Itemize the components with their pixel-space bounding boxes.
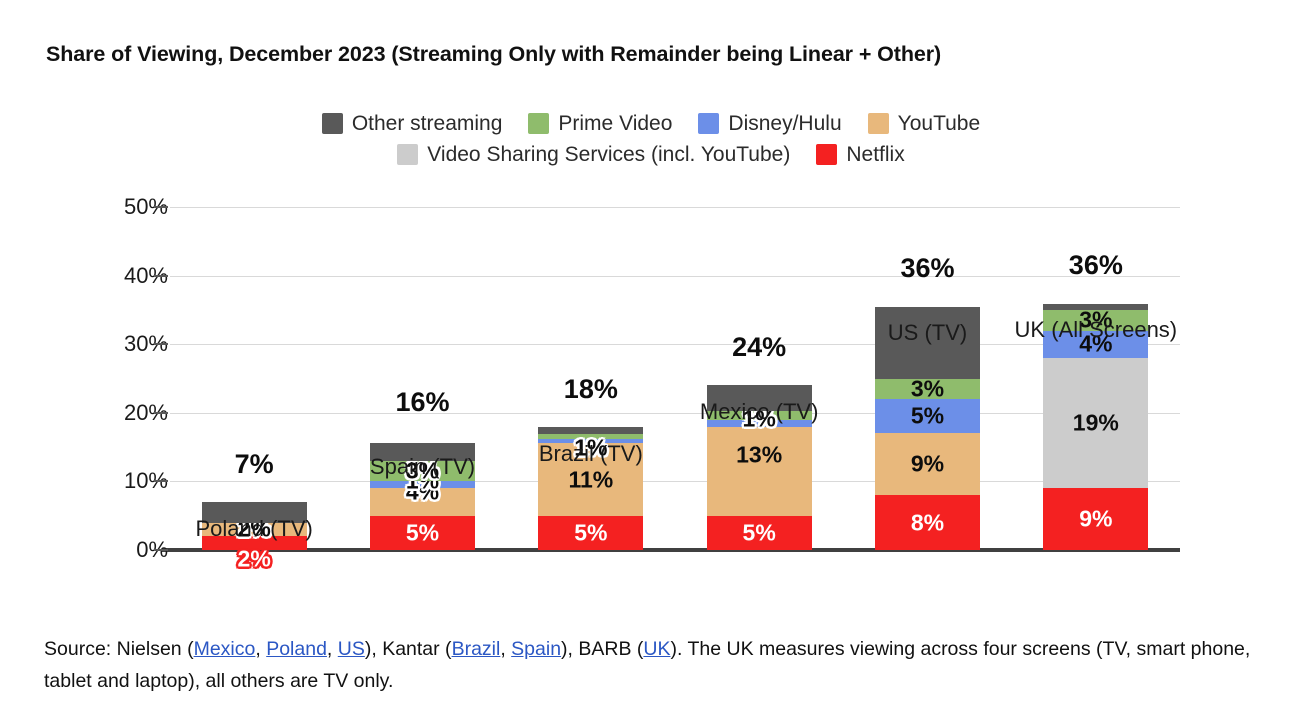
gridline-40 [170,276,1180,277]
link-brazil[interactable]: Brazil [452,638,501,660]
legend-item-disney-hulu[interactable]: Disney/Hulu [698,112,841,136]
segment-other-streaming[interactable] [538,427,643,434]
footnote-mid-1: ), Kantar ( [365,638,452,660]
footnote-mid-2: ), BARB ( [561,638,643,660]
y-axis-tick-20: 20% [48,400,168,426]
legend-item-netflix[interactable]: Netflix [816,143,904,167]
x-axis-label: US (TV) [888,320,967,346]
legend-row-primary: Other streamingPrime VideoDisney/HuluYou… [0,108,1302,139]
y-axis-tick-mark [154,412,168,414]
plot-area: 0%10%20%30%40%50%2%2%7%Poland (TV)5%4%1%… [170,207,1180,550]
x-axis-label: Poland (TV) [195,516,312,542]
y-axis-tick-mark [154,480,168,482]
legend-swatch-youtube [868,113,889,134]
y-axis-tick-50: 50% [48,194,168,220]
bar-uk-all-screens[interactable]: 9%19%4%3%36%UK (All Screens) [1043,303,1148,550]
segment-netflix[interactable]: 5% [538,516,643,550]
link-uk[interactable]: UK [643,638,670,660]
segment-video-sharing-services-incl-youtube[interactable]: 19% [1043,358,1148,488]
bar-total-label: 36% [900,253,954,284]
bar-total-label: 18% [564,374,618,405]
legend-label-other-streaming: Other streaming [352,112,503,136]
legend-label-disney-hulu: Disney/Hulu [728,112,841,136]
segment-value-label: 5% [406,521,439,544]
legend-label-prime-video: Prime Video [558,112,672,136]
legend-swatch-disney-hulu [698,113,719,134]
segment-value-label: 9% [911,453,944,476]
bar-total-label: 16% [395,387,449,418]
bar-mexico-tv[interactable]: 5%13%1%1%24%Mexico (TV) [707,385,812,550]
segment-value-label: 19% [1073,412,1119,435]
chart-legend: Other streamingPrime VideoDisney/HuluYou… [0,108,1302,170]
legend-item-prime-video[interactable]: Prime Video [528,112,672,136]
bar-total-label: 36% [1069,250,1123,281]
legend-item-other-streaming[interactable]: Other streaming [322,112,503,136]
segment-netflix[interactable]: 8% [875,495,980,550]
bar-spain-tv[interactable]: 5%4%1%3%16%Spain (TV) [370,440,475,550]
x-axis-label: Mexico (TV) [700,399,819,425]
segment-disney-hulu[interactable]: 5% [875,399,980,433]
legend-item-video-sharing-services[interactable]: Video Sharing Services (incl. YouTube) [397,143,790,167]
gridline-20 [170,413,1180,414]
y-axis-tick-0: 0% [48,537,168,563]
legend-row-secondary: Video Sharing Services (incl. YouTube)Ne… [0,139,1302,170]
gridline-10 [170,481,1180,482]
segment-netflix[interactable]: 5% [707,516,812,550]
segment-netflix[interactable]: 5% [370,516,475,550]
legend-item-youtube[interactable]: YouTube [868,112,981,136]
segment-youtube[interactable]: 13% [707,427,812,516]
footnote-sep-1: , [255,638,266,660]
segment-prime-video[interactable]: 1% [538,434,643,439]
segment-value-label: 3% [911,377,944,400]
y-axis-tick-mark [154,549,168,551]
legend-swatch-video-sharing-services [397,144,418,165]
x-axis-label: Brazil (TV) [539,441,643,467]
footnote-sep-2: , [327,638,338,660]
bar-brazil-tv[interactable]: 5%11%1%18%Brazil (TV) [538,427,643,550]
segment-value-label: 13% [736,444,782,467]
footnote-sep-3: , [500,638,511,660]
segment-value-label: 5% [743,521,776,544]
bar-poland-tv[interactable]: 2%2%7%Poland (TV) [202,502,307,550]
link-spain[interactable]: Spain [511,638,561,660]
y-axis-tick-mark [154,275,168,277]
segment-netflix[interactable]: 9% [1043,488,1148,550]
gridline-0 [170,550,1180,551]
segment-value-label: 5% [574,522,607,545]
legend-swatch-netflix [816,144,837,165]
segment-youtube[interactable]: 9% [875,433,980,495]
chart-title: Share of Viewing, December 2023 (Streami… [46,42,1266,67]
legend-swatch-other-streaming [322,113,343,134]
bar-us-tv[interactable]: 8%9%5%3%36%US (TV) [875,306,980,550]
segment-value-label: 11% [568,468,613,491]
y-axis-tick-40: 40% [48,263,168,289]
y-axis-tick-mark [154,206,168,208]
bar-total-label: 24% [732,332,786,363]
legend-swatch-prime-video [528,113,549,134]
legend-label-netflix: Netflix [846,143,904,167]
segment-value-label: 9% [1079,508,1112,531]
chart-container: Share of Viewing, December 2023 (Streami… [0,0,1302,728]
segment-other-streaming[interactable] [1043,304,1148,310]
segment-prime-video[interactable]: 3% [875,379,980,400]
source-footnote: Source: Nielsen (Mexico, Poland, US), Ka… [44,634,1284,697]
legend-label-video-sharing-services: Video Sharing Services (incl. YouTube) [427,143,790,167]
legend-label-youtube: YouTube [898,112,981,136]
gridline-50 [170,207,1180,208]
x-axis-label: Spain (TV) [370,454,475,480]
y-axis-tick-mark [154,343,168,345]
segment-value-label: 2% [238,548,271,571]
footnote-pre: Source: Nielsen ( [44,638,194,660]
y-axis-tick-10: 10% [48,468,168,494]
link-poland[interactable]: Poland [266,638,327,660]
x-axis-label: UK (All Screens) [1015,317,1178,343]
bar-total-label: 7% [235,449,274,480]
segment-value-label: 8% [911,511,944,534]
segment-value-label: 5% [911,405,944,428]
y-axis-tick-30: 30% [48,331,168,357]
link-us[interactable]: US [338,638,365,660]
gridline-30 [170,344,1180,345]
link-mexico[interactable]: Mexico [194,638,256,660]
